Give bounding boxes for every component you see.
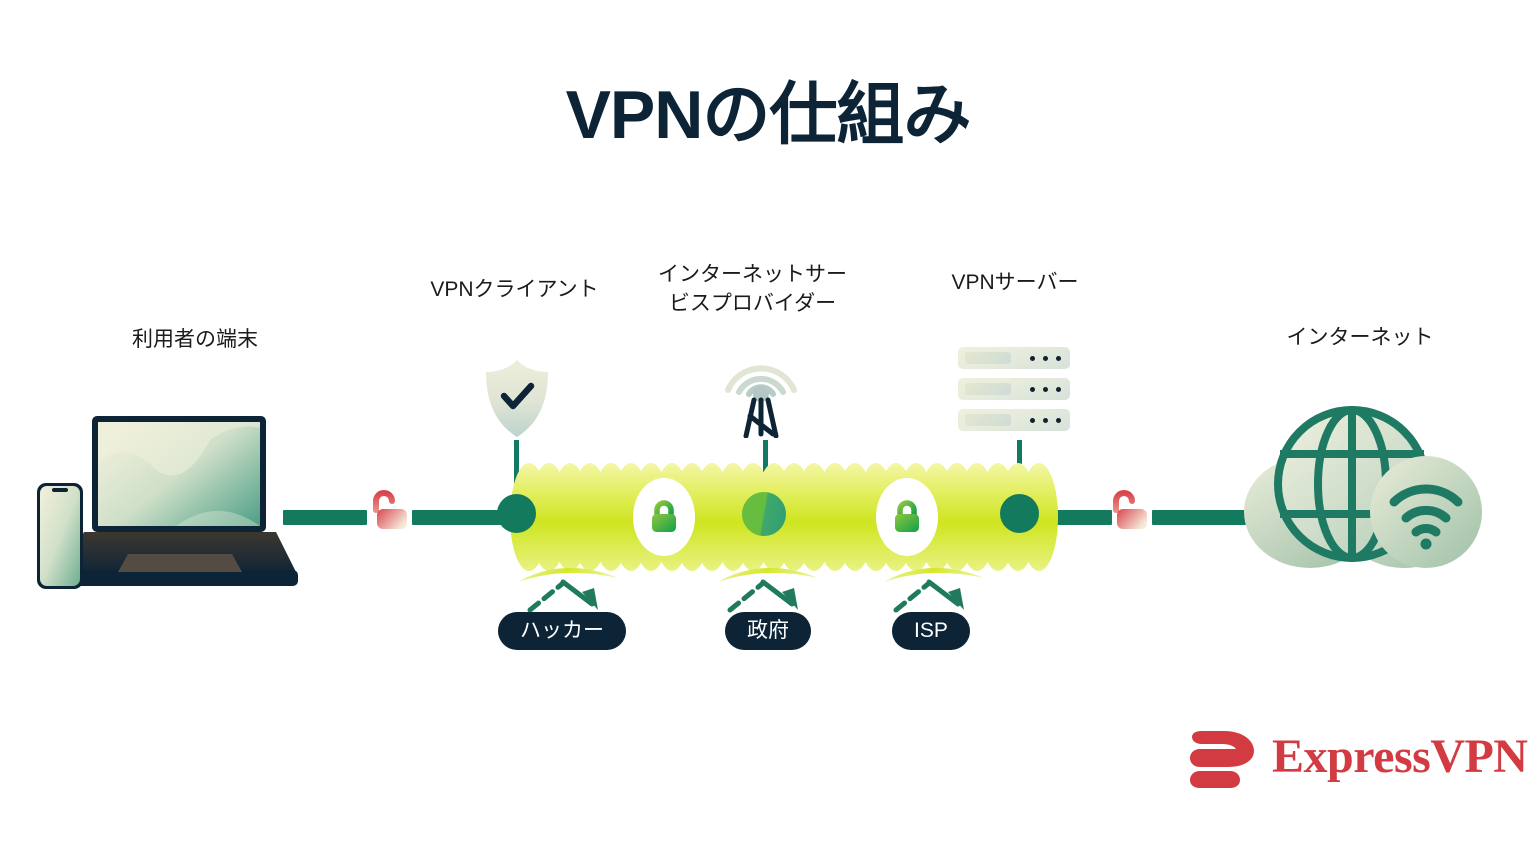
caption-internet: インターネット [1245, 323, 1475, 352]
page-title: VPNの仕組み [0, 78, 1536, 153]
caption-isp: インターネットサー ビスプロバイダー [645, 260, 860, 318]
expressvpn-e-logo-icon [1190, 727, 1262, 791]
server-led [1043, 387, 1048, 392]
open-padlock-icon [365, 482, 411, 538]
server-inner-bar [965, 414, 1011, 426]
server-rack-icon [958, 347, 1070, 432]
caption-vpn-server: VPNサーバー [905, 268, 1125, 297]
expressvpn-logo: ExpressVPN [1190, 727, 1502, 793]
server-led [1056, 356, 1061, 361]
server-led [1043, 418, 1048, 423]
tunnel-exit-node [1000, 494, 1039, 533]
infographic-canvas: VPNの仕組み 利用者の端末 VPNクライアント インターネットサー ビスプロバ… [0, 0, 1536, 850]
server-inner-bar [965, 383, 1011, 395]
tunnel-entry-node [497, 494, 536, 533]
brand-name: ExpressVPN [1272, 729, 1527, 784]
server-inner-bar [965, 352, 1011, 364]
threat-government[interactable]: 政府 [725, 612, 811, 650]
server-bar [958, 347, 1070, 369]
smartphone-icon [36, 482, 84, 590]
tunnel-lock-1 [633, 478, 695, 556]
globe-wifi-icon [1222, 388, 1502, 570]
server-led [1030, 418, 1035, 423]
caption-user-device: 利用者の端末 [60, 325, 330, 354]
threat-isp[interactable]: ISP [892, 612, 970, 650]
server-led [1056, 387, 1061, 392]
server-led [1056, 418, 1061, 423]
server-bar [958, 409, 1070, 431]
deflected-dashed-arrow-icon [500, 552, 650, 614]
server-bar [958, 378, 1070, 400]
open-padlock-icon [1105, 482, 1151, 538]
server-led [1030, 387, 1035, 392]
deflected-dashed-arrow-icon [866, 552, 1016, 614]
closed-padlock-icon [890, 498, 924, 536]
open-lock-right [1105, 482, 1151, 538]
tunnel-lock-2 [876, 478, 938, 556]
shield-check-icon [484, 358, 550, 440]
caption-isp-line1: インターネットサー [645, 260, 860, 289]
closed-padlock-icon [647, 498, 681, 536]
caption-vpn-client: VPNクライアント [397, 275, 632, 304]
threat-hacker[interactable]: ハッカー [498, 612, 626, 650]
caption-isp-line2: ビスプロバイダー [645, 289, 860, 318]
deflected-dashed-arrow-icon [700, 552, 850, 614]
isp-interception-node [742, 492, 786, 536]
server-led [1043, 356, 1048, 361]
open-lock-left [365, 482, 411, 538]
cell-tower-icon [718, 342, 804, 438]
server-led [1030, 356, 1035, 361]
